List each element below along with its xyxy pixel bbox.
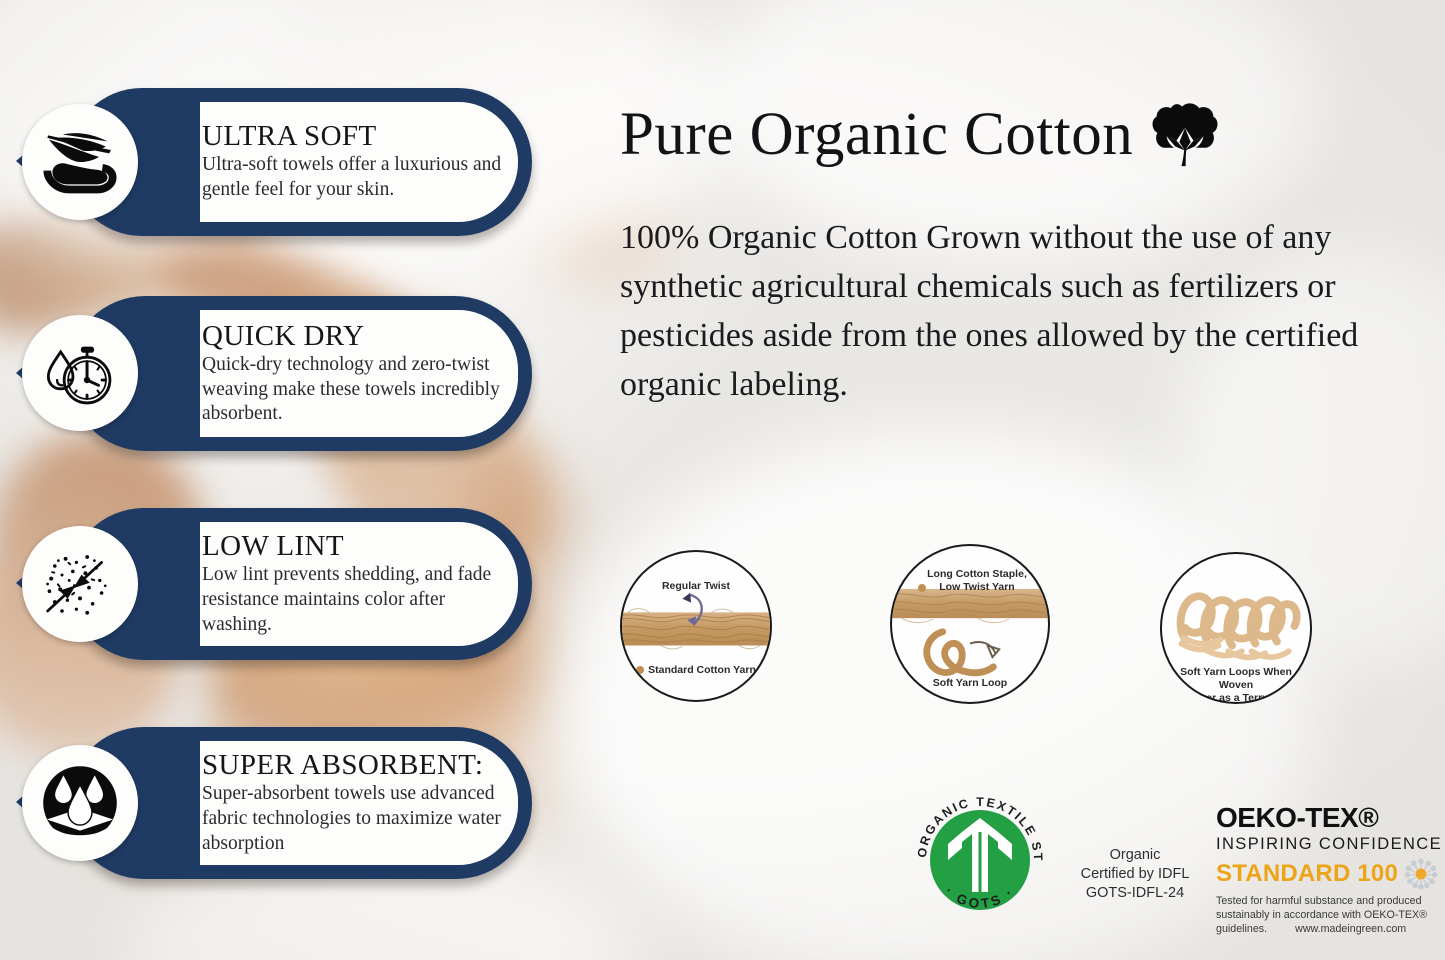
- feature-text-block: SUPER ABSORBENT: Super-absorbent towels …: [202, 750, 502, 856]
- idfl-line-1: Organic: [1060, 846, 1210, 865]
- yarn-legend-dot: [636, 666, 644, 674]
- feature-body: Super-absorbent towels use advanced fabr…: [202, 782, 502, 856]
- yarn-label-bottom: Soft Yarn Loop: [892, 677, 1048, 690]
- feature-body: Quick-dry technology and zero-twist weav…: [202, 353, 502, 427]
- feature-body: Low lint prevents shedding, and fade res…: [202, 563, 502, 637]
- oeko-tex-fine-print: Tested for harmful substance and produce…: [1216, 894, 1444, 937]
- oeko-tex-certification-badge: OEKO-TEX® INSPIRING CONFIDENCE STANDARD …: [1216, 804, 1444, 937]
- feature-title: SUPER ABSORBENT:: [202, 750, 502, 780]
- yarn-label-top: Regular Twist: [622, 580, 770, 593]
- feature-body: Ultra-soft towels offer a luxurious and …: [202, 154, 502, 203]
- oeko-tex-standard-row: STANDARD 100: [1216, 857, 1444, 891]
- lint-particles-arrows-icon: [22, 526, 138, 642]
- yarn-diagram-row: Regular Twist Standard Cotton Yarn: [612, 544, 1445, 724]
- yarn-diagram-regular-twist: Regular Twist Standard Cotton Yarn: [620, 550, 772, 702]
- feature-title: ULTRA SOFT: [202, 121, 502, 151]
- water-droplets-fabric-icon: [22, 745, 138, 861]
- oeko-tex-flower-icon: [1404, 857, 1438, 891]
- oeko-tex-tagline: INSPIRING CONFIDENCE: [1216, 834, 1444, 855]
- oeko-tex-standard: STANDARD 100: [1216, 861, 1398, 886]
- feature-title: QUICK DRY: [202, 320, 502, 350]
- idfl-certification-text: Organic Certified by IDFL GOTS-IDFL-24: [1060, 846, 1210, 903]
- right-content-column: Pure Organic Cotton 100% Organic Cotton …: [612, 0, 1445, 960]
- oeko-tex-url: www.madeingreen.com: [1295, 923, 1406, 935]
- idfl-line-2: Certified by IDFL: [1060, 865, 1210, 884]
- feature-text-block: LOW LINT Low lint prevents shedding, and…: [202, 531, 502, 637]
- yarn-diagram-terry-loops: Soft Yarn Loops When Woven Together as a…: [1160, 552, 1312, 704]
- headline-row: Pure Organic Cotton: [620, 100, 1221, 170]
- yarn-diagram-low-twist: Long Cotton Staple, Low Twist Yarn Soft …: [890, 544, 1050, 704]
- gots-certification-badge: GLOBAL ORGANIC TEXTILE STANDARD · GOTS ·: [904, 784, 1056, 936]
- feature-list: ULTRA SOFT Ultra-soft towels offer a lux…: [0, 0, 570, 960]
- yarn-label-top: Long Cotton Staple, Low Twist Yarn: [892, 568, 1048, 594]
- cotton-boll-icon: [1149, 101, 1221, 169]
- certification-row: GLOBAL ORGANIC TEXTILE STANDARD · GOTS ·…: [612, 780, 1445, 955]
- yarn-label-bottom: Soft Yarn Loops When Woven Together as a…: [1162, 666, 1310, 704]
- headline-paragraph: 100% Organic Cotton Grown without the us…: [620, 214, 1420, 410]
- yarn-label-bottom: Standard Cotton Yarn: [622, 664, 770, 677]
- stopwatch-droplet-icon: [22, 315, 138, 431]
- feature-text-block: ULTRA SOFT Ultra-soft towels offer a lux…: [202, 121, 502, 203]
- feature-title: LOW LINT: [202, 531, 502, 561]
- oeko-tex-brand: OEKO-TEX®: [1216, 804, 1444, 833]
- page-title: Pure Organic Cotton: [620, 100, 1133, 170]
- yarn-legend-dot: [918, 584, 926, 592]
- idfl-line-3: GOTS-IDFL-24: [1060, 884, 1210, 903]
- feature-text-block: QUICK DRY Quick-dry technology and zero-…: [202, 320, 502, 426]
- feather-in-hand-icon: [22, 104, 138, 220]
